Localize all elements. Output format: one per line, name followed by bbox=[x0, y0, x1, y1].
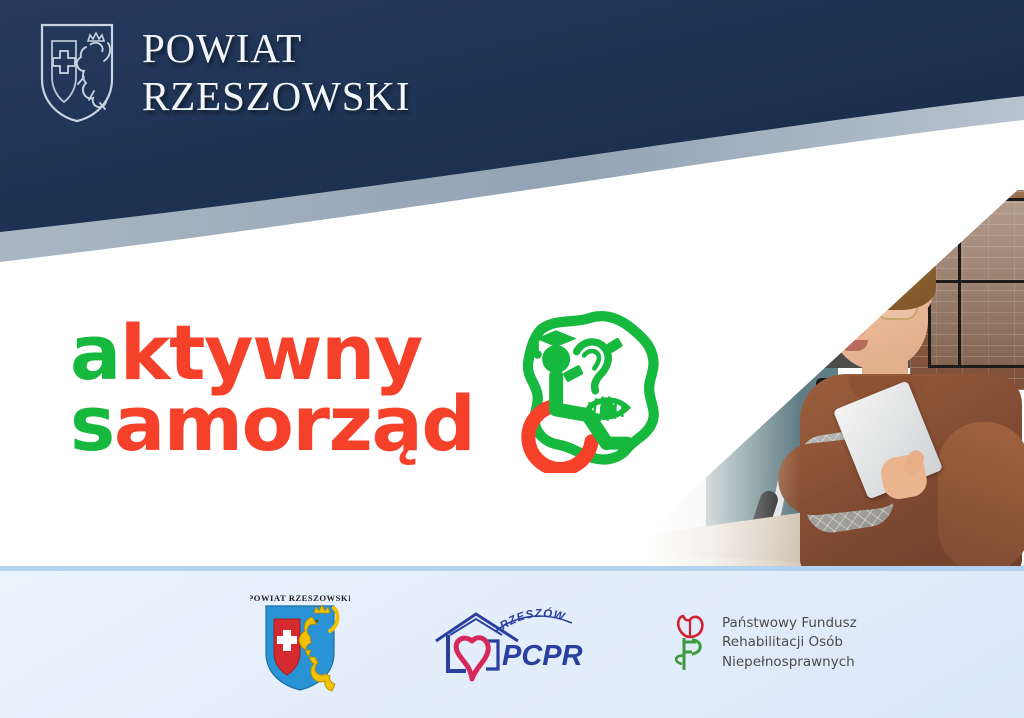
photo-top-fade bbox=[610, 138, 1024, 196]
header-title-block: POWIAT RZESZOWSKI bbox=[142, 28, 410, 117]
pfron-tulip-icon bbox=[670, 612, 712, 674]
pcpr-wordmark: PCPR bbox=[502, 640, 583, 672]
powiat-rzeszowski-coat-of-arms: POWIAT RZESZOWSKI bbox=[250, 591, 350, 695]
pfron-logo: Państwowy Fundusz Rehabilitacji Osób Nie… bbox=[670, 612, 857, 674]
header-title-line2: RZESZOWSKI bbox=[142, 76, 410, 117]
program-wordmark: aktywny samorząd bbox=[70, 318, 474, 459]
pfron-line-3: Niepełnosprawnych bbox=[722, 653, 857, 672]
powiat-rzeszowski-crest-outline-icon bbox=[38, 21, 116, 125]
header-content: POWIAT RZESZOWSKI bbox=[0, 0, 1024, 145]
photo-scene bbox=[610, 138, 1024, 566]
pcpr-rzeszow-logo: PCPR RZESZÓW bbox=[432, 601, 588, 685]
pfron-wordmark: Państwowy Fundusz Rehabilitacji Osób Nie… bbox=[722, 614, 857, 671]
program-wordmark-line2: samorząd bbox=[70, 389, 474, 460]
pfron-line-1: Państwowy Fundusz bbox=[722, 614, 857, 633]
wordmark-s-green: s bbox=[70, 379, 114, 468]
coat-of-arms-caption: POWIAT RZESZOWSKI bbox=[250, 593, 350, 603]
footer-logos-bar: POWIAT RZESZOWSKI bbox=[0, 566, 1024, 718]
header-title-line1: POWIAT bbox=[142, 28, 410, 69]
program-logo: aktywny samorząd bbox=[70, 305, 670, 473]
hero-photo bbox=[610, 138, 1024, 566]
aktywny-samorzad-disability-poland-map-icon bbox=[502, 305, 670, 473]
poster-canvas: POWIAT RZESZOWSKI aktywny samorząd bbox=[0, 0, 1024, 718]
pfron-line-2: Rehabilitacji Osób bbox=[722, 633, 857, 652]
pcpr-arc-text: RZESZÓW bbox=[498, 607, 567, 633]
footer-logo-row: POWIAT RZESZOWSKI bbox=[0, 591, 1024, 695]
wordmark-amorzad-red: amorząd bbox=[114, 379, 475, 468]
